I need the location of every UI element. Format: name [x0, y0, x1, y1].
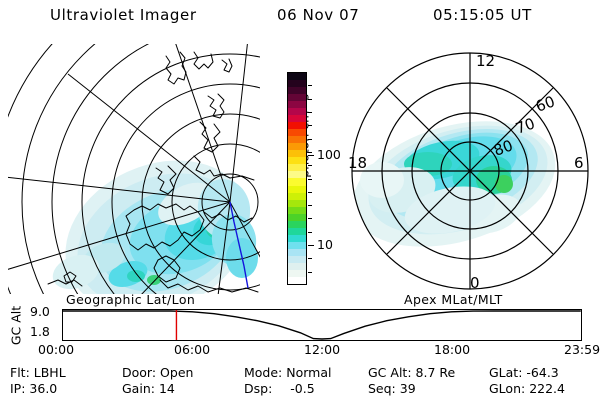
colorbar-segment: [288, 242, 306, 249]
dsp-label: Dsp:: [244, 381, 272, 396]
mlt-label-18: 18: [348, 154, 367, 172]
filter-value: LBHL: [34, 365, 66, 380]
door-value: Open: [160, 365, 193, 380]
colorbar-segment: [288, 80, 306, 87]
mlt-label-12: 12: [476, 52, 495, 70]
orbit-plot-frame: [62, 309, 582, 341]
glat-value: -64.3: [526, 365, 558, 380]
colorbar-segment: [288, 200, 306, 207]
colorbar-minor-tick: [308, 192, 312, 193]
colorbar-segment: [288, 143, 306, 150]
colorbar-segment: [288, 150, 306, 157]
colorbar-gradient[interactable]: [287, 72, 307, 285]
colorbar-segment: [288, 101, 306, 108]
orbit-x-tick-label: 00:00: [38, 344, 74, 357]
orbit-y-tick-label: 9.0: [30, 306, 50, 319]
glon-field: GLon: 222.4: [489, 383, 565, 396]
colorbar-minor-tick: [308, 232, 312, 233]
colorbar-segment: [288, 108, 306, 115]
mlt-label-0: 0: [470, 274, 480, 292]
filter-field: Flt: LBHL: [10, 367, 66, 380]
ip-field: IP: 36.0: [10, 383, 57, 396]
orbit-y-tick-label: 1.8: [30, 326, 50, 339]
colorbar-segment: [288, 228, 306, 235]
instrument-title: Ultraviolet Imager: [50, 6, 197, 24]
geographic-map-svg: [8, 44, 260, 294]
glat-label: GLat:: [489, 365, 522, 380]
colorbar-segment: [288, 193, 306, 200]
colorbar-segment: [288, 129, 306, 136]
colorbar-segment: [288, 256, 306, 263]
mode-field: Mode: Normal: [244, 367, 332, 380]
colorbar-segment: [288, 115, 306, 122]
gain-value: 14: [159, 381, 175, 396]
colorbar-minor-tick: [308, 272, 312, 273]
gc-alt-label: GC Alt:: [368, 365, 412, 380]
header-bar: Ultraviolet Imager 06 Nov 07 05:15:05 UT: [0, 6, 600, 32]
colorbar-segment: [288, 171, 306, 178]
dsp-field: Dsp: -0.5: [244, 383, 315, 396]
colorbar-segment: [288, 87, 306, 94]
colorbar-minor-tick: [308, 245, 312, 246]
colorbar-minor-tick: [308, 99, 312, 100]
gain-label: Gain:: [122, 381, 155, 396]
seq-value: 39: [400, 381, 416, 396]
colorbar-segment: [288, 277, 306, 284]
orbit-altitude-plot[interactable]: GC Alt 9.01.8 00:0006:0012:0018:0023:59: [0, 300, 600, 358]
door-label: Door:: [122, 365, 156, 380]
status-bar: Flt: LBHL IP: 36.0 Door: Open Gain: 14 M…: [0, 362, 600, 400]
colorbar-minor-tick: [308, 125, 312, 126]
ultraviolet-imager-window: Ultraviolet Imager 06 Nov 07 05:15:05 UT: [0, 0, 600, 400]
colorbar-segment: [288, 122, 306, 129]
colorbar-segment: [288, 178, 306, 185]
gc-alt-value: 8.7 Re: [416, 365, 456, 380]
gain-field: Gain: 14: [122, 383, 175, 396]
mode-value: Normal: [286, 365, 331, 380]
colorbar-segment: [288, 157, 306, 164]
mlt-label-6: 6: [574, 154, 584, 172]
colorbar-minor-tick: [308, 179, 312, 180]
ip-value: 36.0: [29, 381, 57, 396]
glon-label: GLon:: [489, 381, 525, 396]
colorbar-segment: [288, 73, 306, 80]
colorbar-minor-tick: [308, 165, 312, 166]
apex-mlt-svg: 12 18 6 0 60 70 80: [342, 44, 598, 294]
ip-label: IP:: [10, 381, 25, 396]
colorbar-segment: [288, 214, 306, 221]
dsp-value: -0.5: [290, 381, 314, 396]
geographic-map-panel[interactable]: [8, 44, 260, 294]
colorbar-segment: [288, 235, 306, 242]
mode-label: Mode:: [244, 365, 282, 380]
colorbar-minor-tick: [308, 152, 312, 153]
colorbar-group: photon cm-2s-1 10010: [265, 60, 345, 295]
orbit-altitude-curve-svg: [63, 310, 581, 340]
seq-field: Seq: 39: [368, 383, 416, 396]
orbit-altitude-curve: [63, 311, 581, 339]
glat-field: GLat: -64.3: [489, 367, 559, 380]
colorbar-segment: [288, 94, 306, 101]
colorbar-minor-tick: [308, 258, 312, 259]
colorbar-minor-tick: [308, 205, 312, 206]
observation-time: 05:15:05 UT: [433, 6, 532, 24]
colorbar-tick-mark: [308, 155, 314, 156]
orbit-x-tick-label: 06:00: [174, 344, 210, 357]
orbit-x-tick-label: 18:00: [434, 344, 470, 357]
colorbar-segment: [288, 263, 306, 270]
colorbar-segment: [288, 221, 306, 228]
gc-alt-field: GC Alt: 8.7 Re: [368, 367, 455, 380]
orbit-x-tick-label: 23:59: [564, 344, 600, 357]
glon-value: 222.4: [529, 381, 565, 396]
colorbar-minor-tick: [308, 85, 312, 86]
seq-label: Seq:: [368, 381, 396, 396]
colorbar-segment: [288, 207, 306, 214]
colorbar-segment: [288, 186, 306, 193]
filter-label: Flt:: [10, 365, 30, 380]
mlt-spokes: [352, 53, 588, 289]
colorbar-minor-tick: [308, 218, 312, 219]
colorbar-segment: [288, 136, 306, 143]
colorbar-segment: [288, 164, 306, 171]
colorbar-minor-tick: [308, 139, 312, 140]
colorbar-tick-label: 100: [317, 149, 341, 162]
orbit-x-tick-label: 12:00: [304, 344, 340, 357]
door-field: Door: Open: [122, 367, 193, 380]
orbit-y-axis-label: GC Alt: [9, 296, 24, 356]
colorbar-minor-tick: [308, 112, 312, 113]
colorbar-tick-label: 10: [317, 239, 333, 252]
colorbar-segment: [288, 270, 306, 277]
apex-mlt-panel[interactable]: 12 18 6 0 60 70 80: [342, 44, 598, 294]
colorbar-segment: [288, 249, 306, 256]
observation-date: 06 Nov 07: [277, 6, 359, 24]
